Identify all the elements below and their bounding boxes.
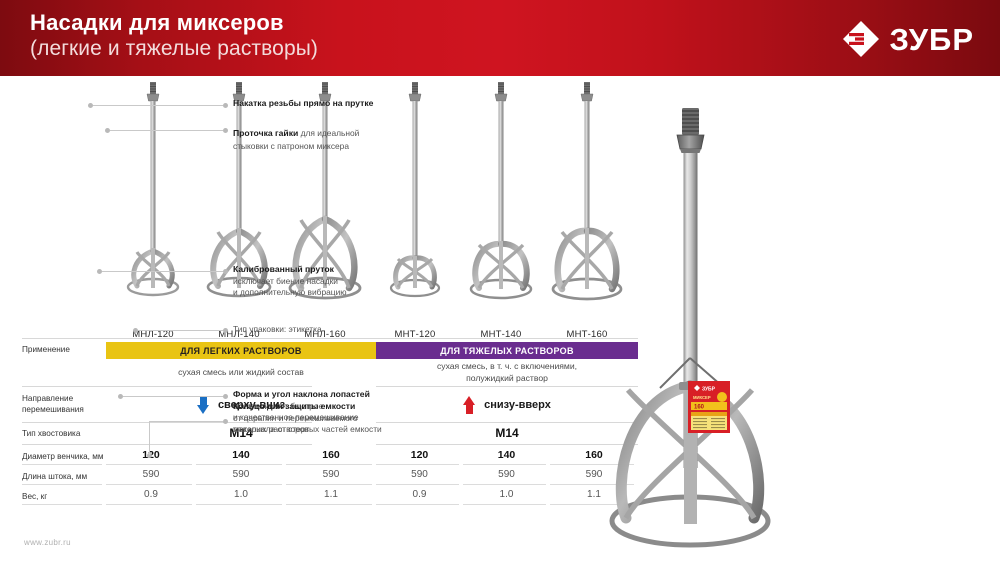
cell-whisk-heavy-120: 120 (376, 449, 463, 461)
callout-title: Калиброванный пруток (233, 264, 445, 276)
cell-rodlen-light-120: 590 (106, 469, 196, 480)
callout-bullet-dot (223, 128, 228, 133)
callout-bullet-dot (223, 328, 228, 333)
product-image-mnl-120: МНЛ-120 (110, 76, 196, 326)
table-divider (196, 464, 282, 465)
hero-product-image (600, 86, 830, 556)
table-divider (22, 338, 638, 339)
callout-leader-line (138, 330, 223, 331)
brand-name: ЗУБР (890, 24, 974, 55)
table-divider (376, 484, 459, 485)
callout-line3: и дополнительную вибрацию (233, 287, 445, 299)
table-divider (376, 444, 638, 445)
callout-title: Проточка гайки (233, 128, 298, 138)
callout-leader-line (123, 396, 223, 397)
cell-rodlen-heavy-120: 590 (376, 469, 463, 480)
table-divider (463, 464, 546, 465)
table-divider (463, 484, 546, 485)
callout-line3: материала от стертых частей емкости (233, 424, 445, 436)
footer-url[interactable]: www.zubr.ru (24, 538, 71, 547)
cell-rodlen-light-160: 590 (286, 469, 376, 480)
callout-bullet-dot (223, 394, 228, 399)
callout-title-rest: для идеальной (298, 128, 359, 138)
zubr-arrow-icon (841, 19, 881, 59)
cell-weight-heavy-140: 1.0 (463, 489, 550, 500)
table-divider (22, 386, 312, 387)
cell-rodlen-heavy-140: 590 (463, 469, 550, 480)
table-divider (106, 484, 192, 485)
table-divider (106, 504, 192, 505)
table-divider (286, 484, 372, 485)
table-divider (376, 504, 459, 505)
brand-logo: ЗУБР (841, 19, 974, 59)
callout-leader-line-vertical (149, 421, 150, 455)
product-image-mnt-140: МНТ-140 (458, 76, 544, 326)
callout-leader-line (102, 271, 223, 272)
callout-title-line: Проточка гайки для идеальной (233, 123, 445, 141)
callout-bullet-dot (223, 269, 228, 274)
callout-line2: стыковки с патроном миксера (233, 141, 445, 153)
cell-whisk-light-140: 140 (196, 449, 286, 461)
cell-weight-light-160: 1.1 (286, 489, 376, 500)
callout-bullet-dot (223, 419, 228, 424)
callout-leader-line (110, 130, 223, 131)
table-divider (196, 504, 282, 505)
table-divider (22, 504, 102, 505)
product-infographic-page: Насадки для миксеров (легкие и тяжелые р… (0, 0, 1000, 563)
description-light: сухая смесь или жидкий состав (106, 366, 376, 378)
table-divider (106, 464, 192, 465)
arrow-down-icon (197, 396, 210, 414)
banner-heavy: ДЛЯ ТЯЖЕЛЫХ РАСТВОРОВ (376, 342, 638, 359)
callout-leader-line (149, 421, 223, 422)
callout-line2: исключает биение насадки (233, 276, 445, 288)
table-divider (286, 464, 372, 465)
callout-calibrated-rod: Калиброванный пруток исключает биение на… (233, 264, 445, 299)
description-heavy-line2: полужидкий раствор (376, 372, 638, 384)
svg-text:ЗУБР: ЗУБР (702, 386, 716, 392)
cell-rodlen-light-140: 590 (196, 469, 286, 480)
callout-nut-groove: Проточка гайки для идеальной стыковки с … (233, 123, 445, 153)
callout-thread-knurling: Накатка резьбы прямо на прутке (233, 98, 445, 110)
callout-leader-line (93, 105, 223, 106)
callout-line2: от царапин и перемешиваемого (233, 413, 445, 425)
banner-light: ДЛЯ ЛЕГКИХ РАСТВОРОВ (106, 342, 376, 359)
table-divider (22, 444, 312, 445)
package-label-sticker: ЗУБР МИКСЕР 160 (688, 381, 730, 433)
callout-title: Форма и угол наклона лопастей (233, 389, 445, 401)
table-divider (376, 386, 638, 387)
cell-weight-light-140: 1.0 (196, 489, 286, 500)
table-divider (22, 464, 102, 465)
callout-title: Кольцо для защиты емкости (233, 401, 445, 413)
arrow-up-icon (463, 396, 476, 414)
cell-weight-heavy-120: 0.9 (376, 489, 463, 500)
callout-text: Тип упаковки: этикетка (233, 324, 445, 336)
page-header: Насадки для миксеров (легкие и тяжелые р… (0, 0, 1000, 76)
cell-whisk-heavy-140: 140 (463, 449, 550, 461)
main-content: МНЛ-120 М (0, 76, 1000, 563)
callout-title: Накатка резьбы прямо на прутке (233, 98, 445, 110)
page-subtitle: (легкие и тяжелые растворы) (30, 36, 318, 62)
svg-text:160: 160 (694, 405, 705, 411)
page-title: Насадки для миксеров (30, 10, 284, 36)
table-divider (22, 484, 102, 485)
direction-heavy-label: снизу-вверх (484, 399, 551, 411)
callout-protective-ring: Кольцо для защиты емкости от царапин и п… (233, 401, 445, 436)
callout-bullet-dot (223, 103, 228, 108)
table-divider (286, 504, 372, 505)
table-divider (196, 484, 282, 485)
cell-whisk-light-160: 160 (286, 449, 376, 461)
description-heavy-line1: сухая смесь, в т. ч. с включениями, (376, 360, 638, 372)
svg-text:МИКСЕР: МИКСЕР (693, 395, 711, 400)
callout-package-type: Тип упаковки: этикетка (233, 324, 445, 336)
cell-weight-light-120: 0.9 (106, 489, 196, 500)
table-divider (376, 464, 459, 465)
table-divider (463, 504, 546, 505)
